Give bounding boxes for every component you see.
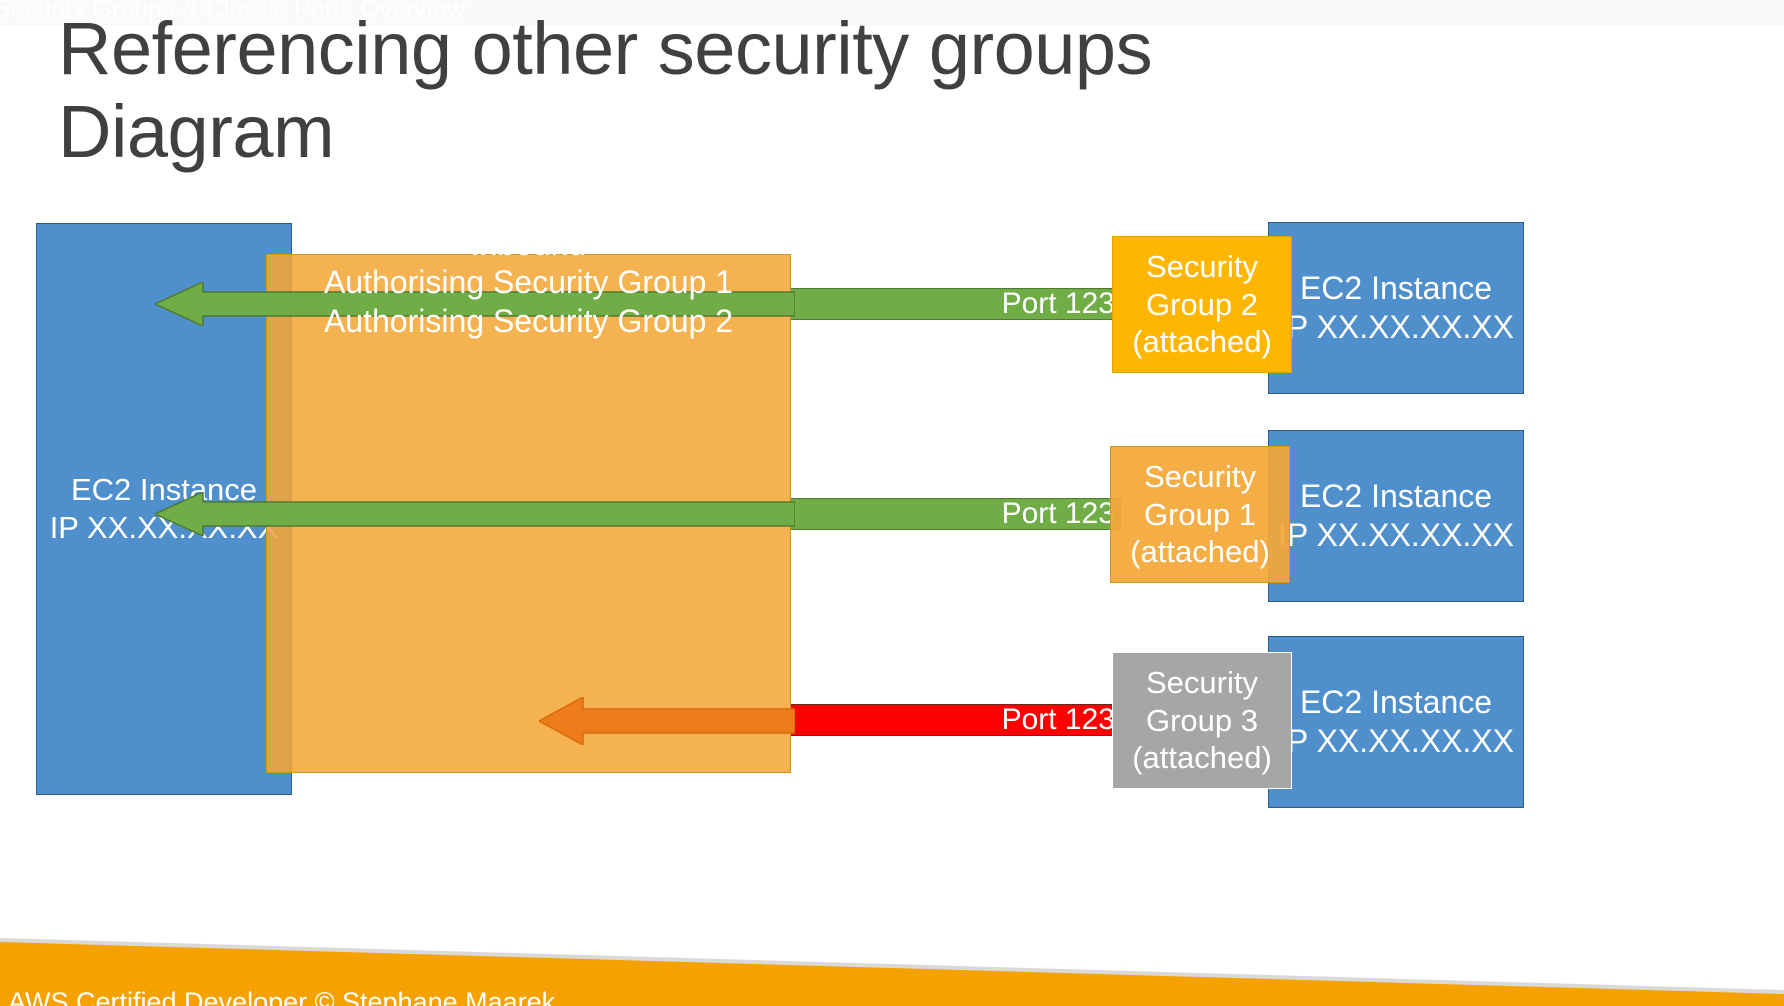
security-group-3-attached[interactable]: Security Group 3 (attached) — [1112, 652, 1292, 789]
port-band-row-1[interactable]: Port 123 — [791, 288, 1121, 320]
arrow-allowed-row-1 — [155, 282, 795, 326]
right-ec2-row-3-line-1: EC2 Instance — [1300, 683, 1492, 722]
sg-row-2-line-1: Security — [1144, 458, 1256, 496]
sg-row-3-line-1: Security — [1146, 664, 1258, 702]
right-ec2-row-2-line-1: EC2 Instance — [1300, 477, 1492, 516]
port-label-row-2: Port 123 — [1002, 497, 1115, 531]
sg-row-2-line-2: Group 1 — [1144, 496, 1256, 534]
security-group-2-attached[interactable]: Security Group 2 (attached) — [1112, 236, 1292, 373]
sg-row-1-line-2: Group 2 — [1146, 286, 1258, 324]
page-title: Referencing other security groups Diagra… — [58, 8, 1258, 174]
right-ec2-instance-row-3[interactable]: EC2 Instance IP XX.XX.XX.XX — [1268, 636, 1524, 808]
right-ec2-row-3-line-2: IP XX.XX.XX.XX — [1278, 722, 1514, 761]
port-band-row-2[interactable]: Port 123 — [791, 498, 1121, 530]
arrow-blocked-row-3 — [539, 697, 795, 745]
page-title-line-1: Referencing other security groups — [58, 8, 1258, 91]
page-title-line-2: Diagram — [58, 91, 1258, 174]
sg-row-3-line-3: (attached) — [1132, 739, 1272, 777]
right-ec2-row-1-line-2: IP XX.XX.XX.XX — [1278, 308, 1514, 347]
slide-canvas: Security Groups & Classic Ports Overview… — [0, 0, 1784, 1006]
port-band-row-3[interactable]: Port 123 — [791, 704, 1121, 736]
right-ec2-row-1-line-1: EC2 Instance — [1300, 269, 1492, 308]
arrow-allowed-row-2 — [155, 492, 795, 536]
sg1-line-1: Security Group 1 — [266, 186, 791, 225]
sg-row-1-line-1: Security — [1146, 248, 1258, 286]
right-ec2-row-2-line-2: IP XX.XX.XX.XX — [1278, 516, 1514, 555]
port-label-row-1: Port 123 — [1002, 287, 1115, 321]
footer-text: AWS Certified Developer © Stephane Maare… — [8, 987, 555, 1006]
port-label-row-3: Port 123 — [1002, 703, 1115, 737]
sg-row-3-line-2: Group 3 — [1146, 702, 1258, 740]
security-group-1-attached[interactable]: Security Group 1 (attached) — [1110, 446, 1290, 583]
sg-row-1-line-3: (attached) — [1132, 323, 1272, 361]
sg-row-2-line-3: (attached) — [1130, 533, 1270, 571]
right-ec2-instance-row-1[interactable]: EC2 Instance IP XX.XX.XX.XX — [1268, 222, 1524, 394]
right-ec2-instance-row-2[interactable]: EC2 Instance IP XX.XX.XX.XX — [1268, 430, 1524, 602]
